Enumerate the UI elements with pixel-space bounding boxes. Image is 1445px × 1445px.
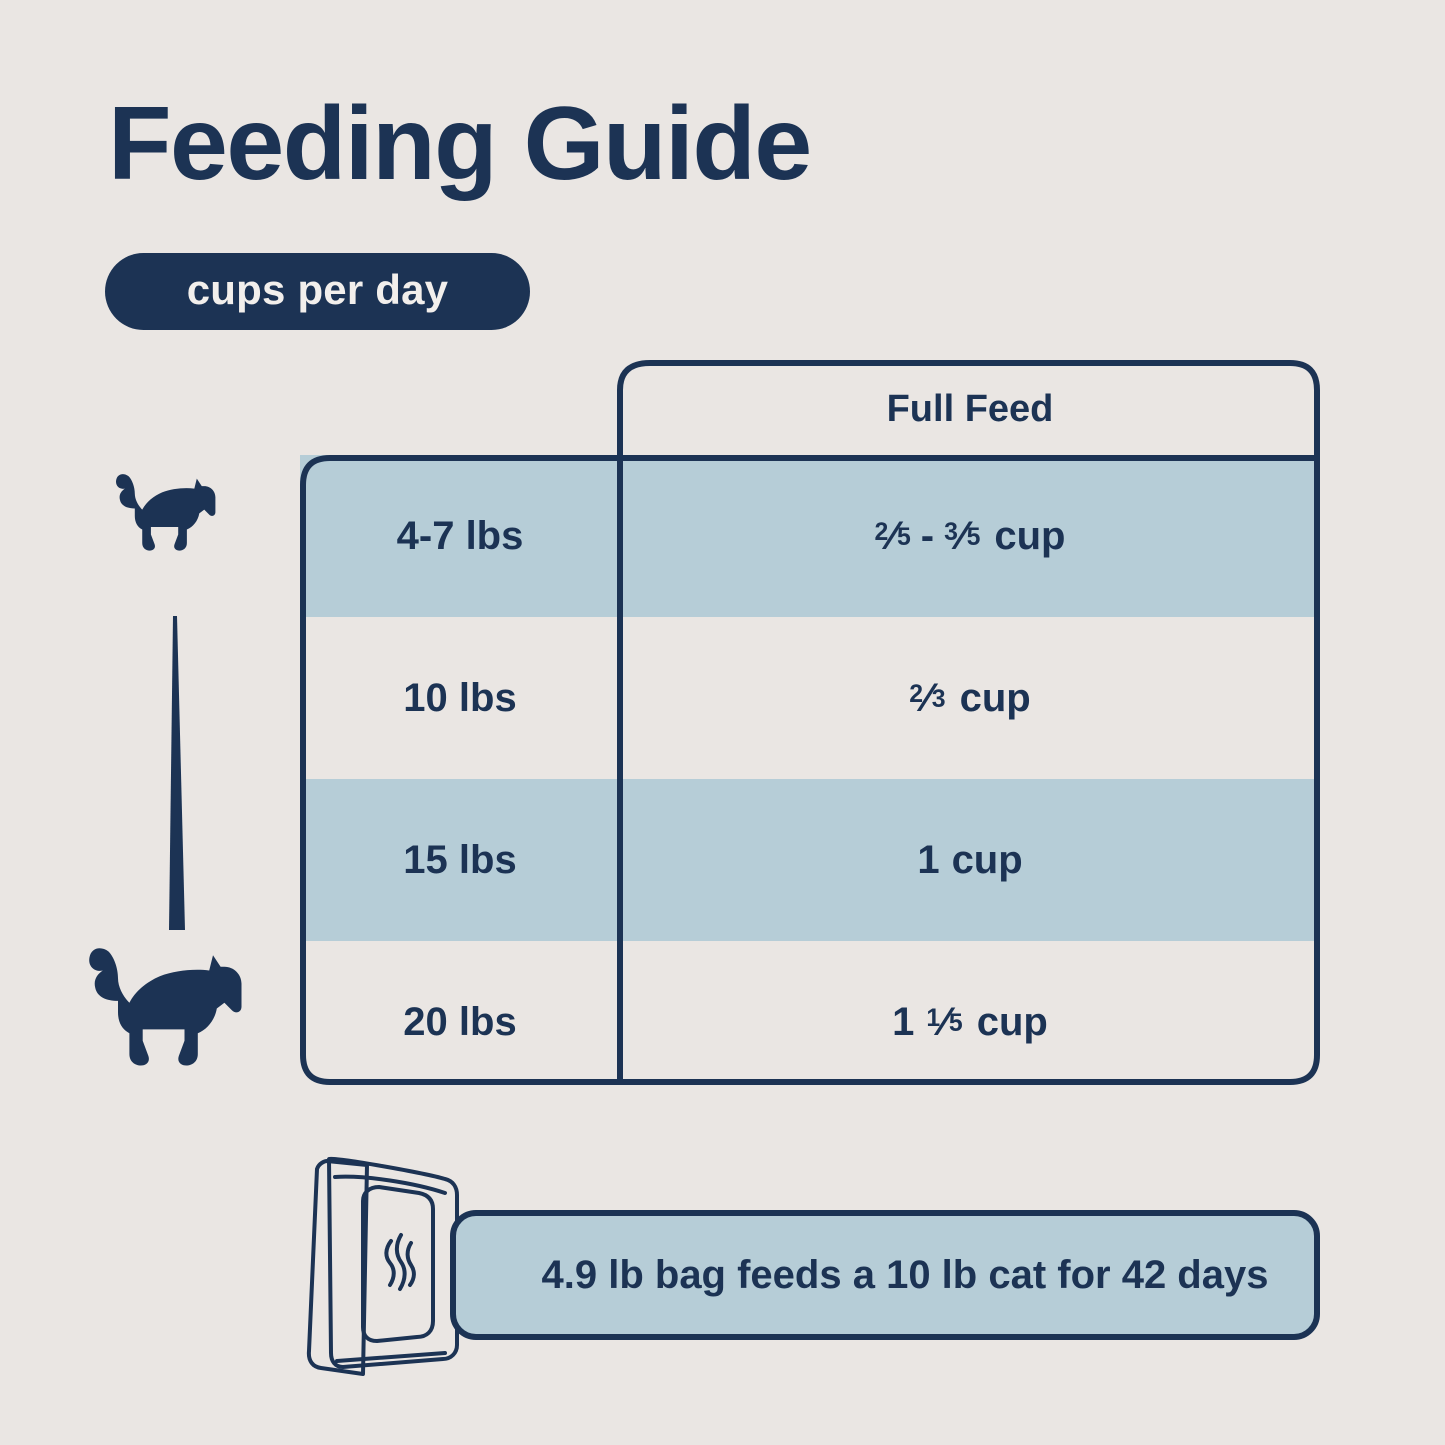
- fraction-numerator: 2: [874, 521, 888, 546]
- fraction-numerator: 1: [926, 1007, 940, 1032]
- amount-unit: cup: [960, 676, 1031, 721]
- fraction-denominator: 5: [967, 526, 981, 551]
- subtitle-pill: cups per day: [105, 253, 530, 330]
- fraction-low: 1⁄5: [926, 1000, 962, 1045]
- amount-unit: cup: [994, 514, 1065, 559]
- fraction-high: 3⁄5: [944, 514, 980, 559]
- amount-whole: 1: [892, 1000, 914, 1045]
- fraction-numerator: 3: [944, 521, 958, 546]
- bag-duration-banner: 4.9 lb bag feeds a 10 lb cat for 42 days: [450, 1210, 1320, 1340]
- fraction-denominator: 5: [949, 1012, 963, 1037]
- cell-weight: 15 lbs: [300, 779, 620, 941]
- fraction-denominator: 5: [897, 526, 911, 551]
- table-row: 15 lbs 1 cup: [300, 779, 1320, 941]
- cell-amount: 1 1⁄5 cup: [620, 941, 1320, 1103]
- fraction-slash: ⁄: [940, 1000, 949, 1045]
- fraction-numerator: 2: [909, 683, 923, 708]
- bag-duration-text: 4.9 lb bag feeds a 10 lb cat for 42 days: [502, 1253, 1269, 1298]
- amount-unit: cup: [952, 838, 1023, 883]
- page-title: Feeding Guide: [108, 92, 811, 196]
- fraction-slash: ⁄: [958, 514, 967, 559]
- fraction-denominator: 3: [932, 688, 946, 713]
- cell-weight: 10 lbs: [300, 617, 620, 779]
- range-dash: -: [921, 514, 934, 559]
- fraction-low: 2⁄3: [909, 676, 945, 721]
- column-header-full-feed: Full Feed: [620, 388, 1320, 431]
- fraction-slash: ⁄: [888, 514, 897, 559]
- amount-unit: cup: [977, 1000, 1048, 1045]
- cell-amount: 2⁄3 cup: [620, 617, 1320, 779]
- cell-weight: 4-7 lbs: [300, 455, 620, 617]
- table-row: 4-7 lbs 2⁄5 - 3⁄5 cup: [300, 455, 1320, 617]
- subtitle-pill-label: cups per day: [187, 266, 449, 317]
- feeding-table: Full Feed 4-7 lbs 2⁄5 - 3⁄5 cup 10 lbs 2…: [300, 360, 1320, 1088]
- table-row: 10 lbs 2⁄3 cup: [300, 617, 1320, 779]
- table-row: 20 lbs 1 1⁄5 cup: [300, 941, 1320, 1103]
- cell-weight: 20 lbs: [300, 941, 620, 1103]
- amount-whole: 1: [917, 838, 939, 883]
- small-cat-icon: [116, 474, 215, 550]
- cell-amount: 1 cup: [620, 779, 1320, 941]
- fraction-low: 2⁄5: [874, 514, 910, 559]
- infographic-root: Feeding Guide cups per day: [0, 0, 1445, 1445]
- cell-amount: 2⁄5 - 3⁄5 cup: [620, 455, 1320, 617]
- size-gradient-wedge-icon: [169, 616, 185, 930]
- large-cat-icon: [89, 948, 241, 1065]
- fraction-slash: ⁄: [923, 676, 932, 721]
- cat-size-scale: [72, 462, 282, 1092]
